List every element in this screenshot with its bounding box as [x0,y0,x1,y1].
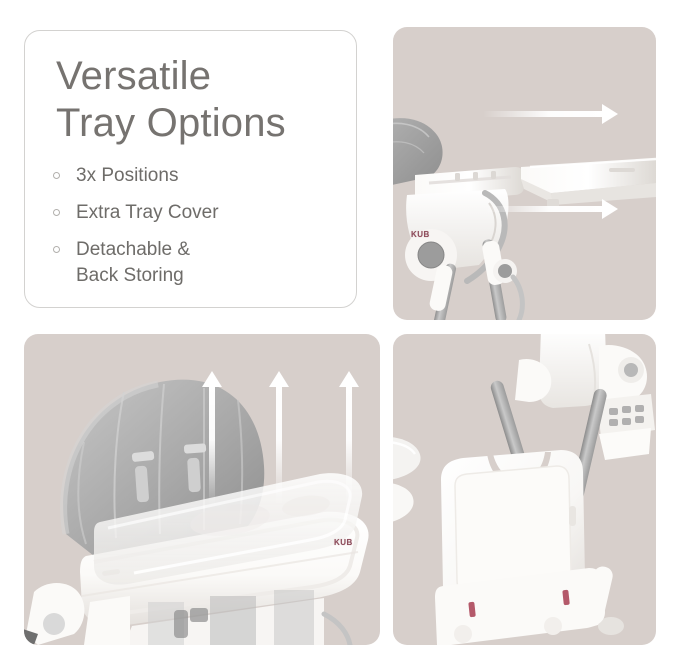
background-tray-edge [393,437,421,526]
highchair-detaching-illustration [393,27,656,320]
bullet-circle-icon [53,172,60,179]
list-item: Detachable & Back Storing [47,237,347,289]
photo-panel-tray-detaching: KUB [393,27,656,320]
bullet-circle-icon [53,246,60,253]
list-item-label: 3x Positions [76,163,178,189]
detached-tray [521,159,656,209]
tray-slide-arrow-lower [483,206,603,212]
bullet-circle-icon [53,209,60,216]
tray-cover-lift-arrow-2 [276,386,282,506]
list-item: 3x Positions [47,163,347,189]
page-title: Versatile Tray Options [56,53,346,147]
tray-slide-arrow-upper [483,111,603,117]
brand-logo: KUB [334,538,353,547]
feature-list: 3x Positions Extra Tray Cover Detachable… [47,163,347,300]
text-panel: Versatile Tray Options 3x Positions Extr… [24,30,357,308]
feature-collage: Versatile Tray Options 3x Positions Extr… [0,0,679,668]
tray-side-latch [569,506,576,526]
tray-groove [609,168,635,172]
list-item: Extra Tray Cover [47,200,347,226]
list-item-label: Extra Tray Cover [76,200,219,226]
side-hub-left [24,583,84,645]
photo-panel-tray-cover: KUB [24,334,380,645]
tray-cover-lift-arrow-3 [346,386,352,506]
tray-back-storing-illustration [393,334,656,645]
brand-logo: KUB [411,230,430,239]
list-item-label: Detachable & Back Storing [76,237,190,289]
top-hinge-cluster [597,345,655,460]
chair-underframe [84,590,350,645]
tray-cover-lift-arrow-1 [209,386,215,506]
photo-panel-tray-back-storing [393,334,656,645]
